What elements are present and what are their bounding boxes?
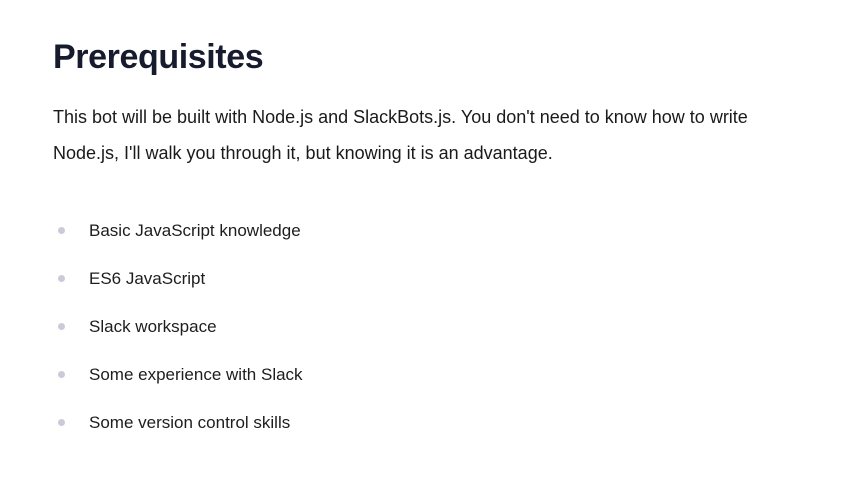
bullet-dot-icon [58, 227, 65, 234]
article-page: Prerequisites This bot will be built wit… [0, 0, 860, 480]
bullet-dot-icon [58, 419, 65, 426]
list-item: Slack workspace [53, 303, 807, 351]
list-item: Some version control skills [53, 399, 807, 447]
bullet-dot-icon [58, 323, 65, 330]
intro-paragraph: This bot will be built with Node.js and … [53, 79, 807, 171]
bullet-dot-icon [58, 275, 65, 282]
bullet-dot-icon [58, 371, 65, 378]
list-item-label: Some experience with Slack [89, 351, 303, 399]
requirements-list: Basic JavaScript knowledge ES6 JavaScrip… [53, 171, 807, 447]
list-item-label: Slack workspace [89, 303, 217, 351]
list-item: Basic JavaScript knowledge [53, 207, 807, 255]
list-item: ES6 JavaScript [53, 255, 807, 303]
page-title: Prerequisites [53, 0, 807, 79]
list-item-label: Some version control skills [89, 399, 290, 447]
list-item-label: Basic JavaScript knowledge [89, 207, 301, 255]
list-item: Some experience with Slack [53, 351, 807, 399]
list-item-label: ES6 JavaScript [89, 255, 205, 303]
